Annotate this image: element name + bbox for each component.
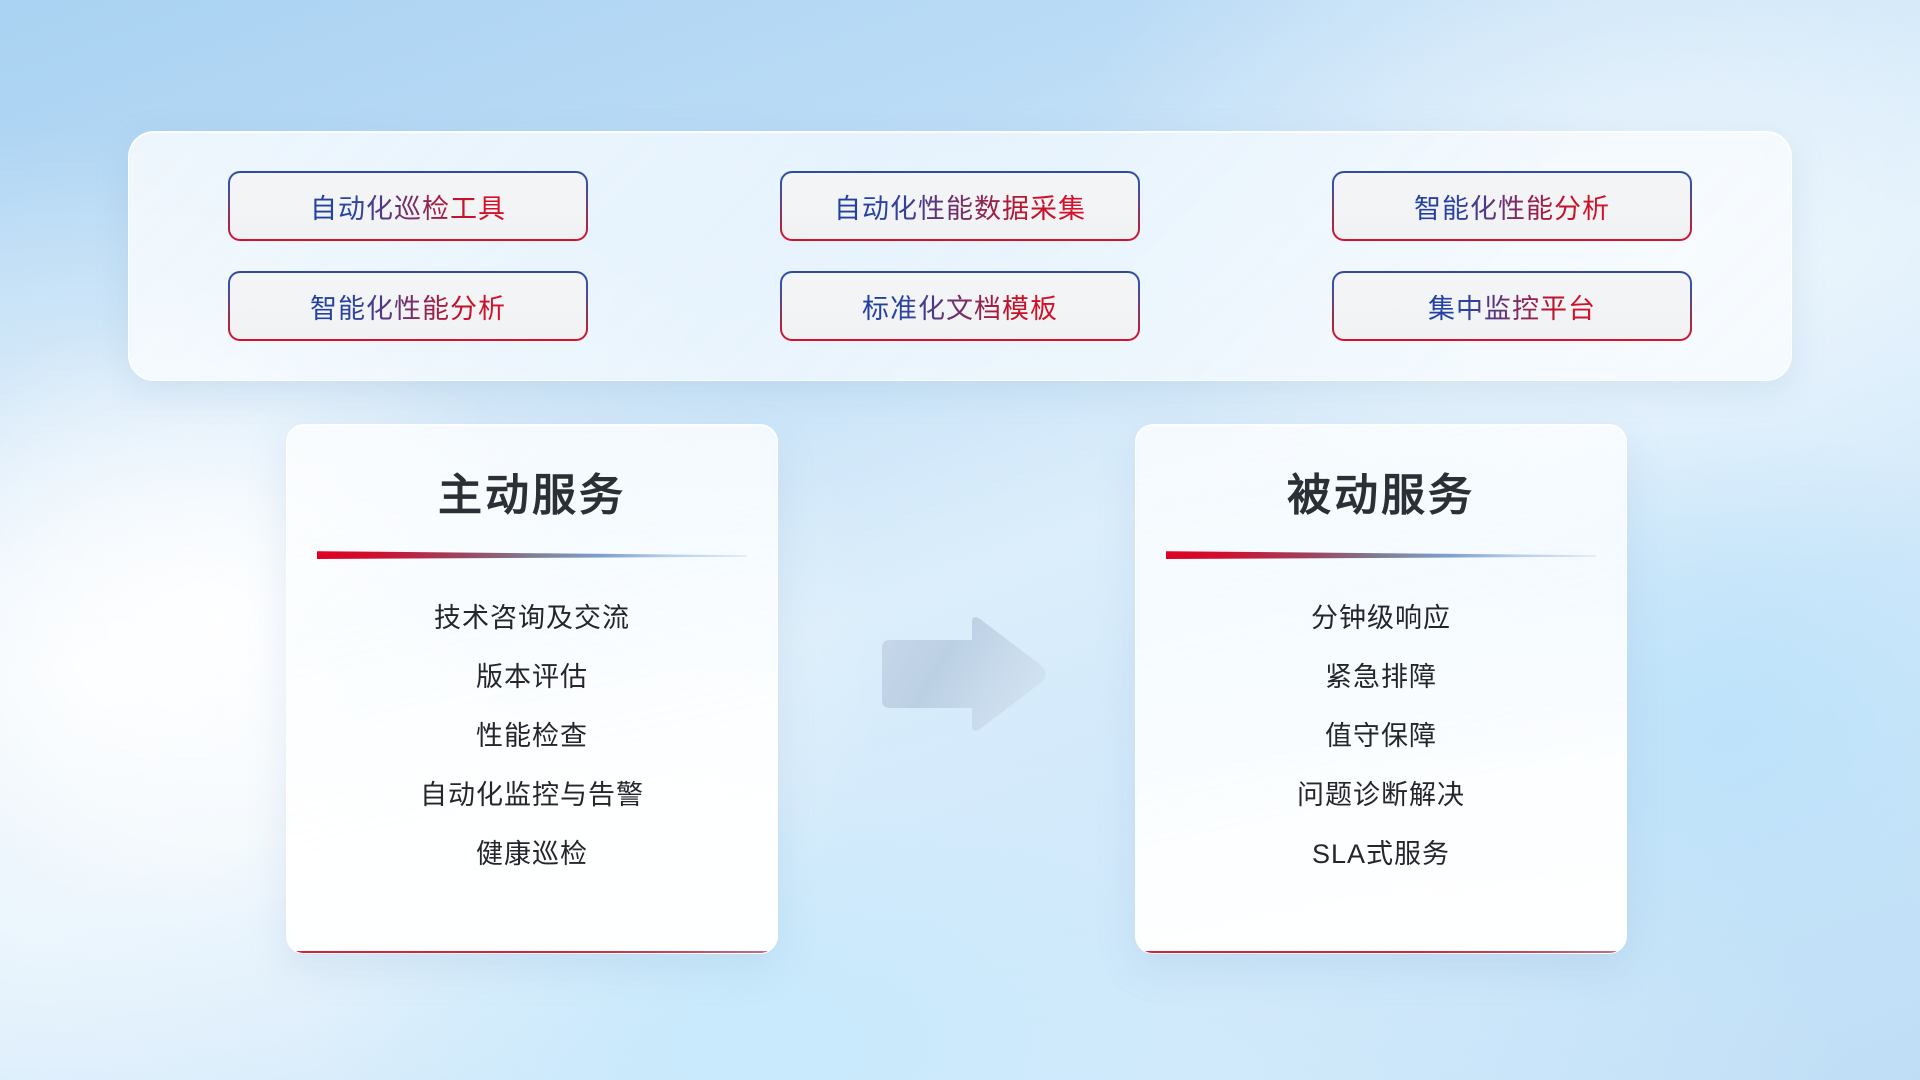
list-item: 紧急排障 [1136, 648, 1626, 707]
divider-gradient-shape [317, 549, 747, 559]
list-item: 版本评估 [287, 648, 777, 707]
capability-pill-1-inner: 自动化巡检工具 [230, 173, 586, 239]
service-card-proactive-list: 技术咨询及交流 版本评估 性能检查 自动化监控与告警 健康巡检 [287, 589, 777, 884]
capability-pill-grid: 自动化巡检工具 自动化性能数据采集 智能化性能分析 智能化性能分析 标准化文档模… [228, 171, 1692, 341]
list-item: SLA式服务 [1136, 825, 1626, 884]
capability-pill-3-inner: 智能化性能分析 [1334, 173, 1690, 239]
capability-pill-2-label: 自动化性能数据采集 [834, 187, 1086, 226]
list-item: 性能检查 [287, 707, 777, 766]
capability-pill-4[interactable]: 智能化性能分析 [228, 271, 588, 341]
capability-pill-2-inner: 自动化性能数据采集 [782, 173, 1138, 239]
capability-panel: 自动化巡检工具 自动化性能数据采集 智能化性能分析 智能化性能分析 标准化文档模… [128, 131, 1792, 381]
capability-pill-4-label: 智能化性能分析 [310, 287, 506, 326]
capability-pill-2[interactable]: 自动化性能数据采集 [780, 171, 1140, 241]
service-card-proactive-accent [287, 951, 777, 953]
capability-pill-6[interactable]: 集中监控平台 [1332, 271, 1692, 341]
capability-pill-1[interactable]: 自动化巡检工具 [228, 171, 588, 241]
capability-pill-4-inner: 智能化性能分析 [230, 273, 586, 339]
service-card-reactive-accent [1136, 951, 1626, 953]
list-item: 问题诊断解决 [1136, 766, 1626, 825]
service-card-proactive-title: 主动服务 [287, 459, 777, 523]
list-item: 健康巡检 [287, 825, 777, 884]
capability-pill-3[interactable]: 智能化性能分析 [1332, 171, 1692, 241]
capability-pill-5[interactable]: 标准化文档模板 [780, 271, 1140, 341]
capability-pill-1-label: 自动化巡检工具 [310, 187, 506, 226]
capability-pill-5-inner: 标准化文档模板 [782, 273, 1138, 339]
list-item: 分钟级响应 [1136, 589, 1626, 648]
capability-pill-6-label: 集中监控平台 [1428, 287, 1596, 326]
capability-pill-6-inner: 集中监控平台 [1334, 273, 1690, 339]
right-arrow-icon [876, 614, 1048, 734]
service-card-proactive: 主动服务 技术咨询及交流 版本评估 性能检查 自动化监控与告警 健康巡检 [286, 424, 778, 954]
capability-pill-5-label: 标准化文档模板 [862, 287, 1058, 326]
service-card-reactive-list: 分钟级响应 紧急排障 值守保障 问题诊断解决 SLA式服务 [1136, 589, 1626, 884]
capability-pill-3-label: 智能化性能分析 [1414, 187, 1610, 226]
divider-gradient-shape [1166, 549, 1596, 559]
service-card-reactive-divider [1166, 549, 1596, 559]
service-card-reactive-title: 被动服务 [1136, 459, 1626, 523]
list-item: 值守保障 [1136, 707, 1626, 766]
service-card-reactive: 被动服务 分钟级响应 紧急排障 值守保障 问题诊断解决 SLA式服务 [1135, 424, 1627, 954]
list-item: 自动化监控与告警 [287, 766, 777, 825]
list-item: 技术咨询及交流 [287, 589, 777, 648]
service-card-proactive-divider [317, 549, 747, 559]
